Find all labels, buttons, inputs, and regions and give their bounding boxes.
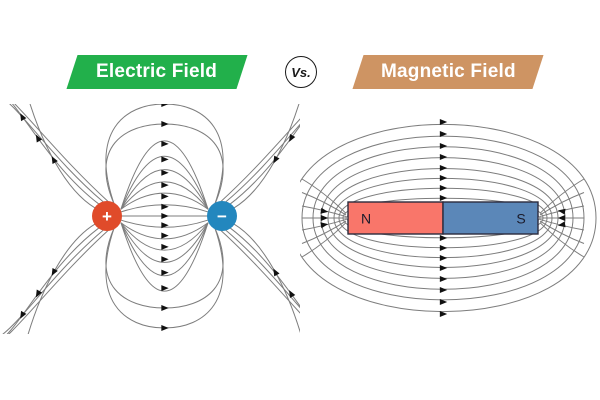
- north-pole-label: N: [361, 211, 371, 227]
- electric-field-lines: [0, 104, 300, 334]
- negative-charge-label: −: [217, 207, 227, 226]
- versus-badge: Vs.: [285, 56, 317, 88]
- electric-field-banner: Electric Field: [66, 55, 247, 89]
- electric-field-arrowheads: [20, 104, 300, 331]
- magnetic-field-banner: Magnetic Field: [352, 55, 543, 89]
- magnetic-field-banner-label: Magnetic Field: [381, 61, 516, 83]
- south-pole-label: S: [516, 211, 525, 227]
- versus-badge-label: Vs.: [291, 66, 311, 79]
- diagram-canvas: Electric Field Vs. Magnetic Field + − N …: [0, 0, 600, 400]
- electric-field-banner-label: Electric Field: [96, 61, 217, 83]
- magnetic-field-diagram: N S: [300, 104, 600, 334]
- positive-charge-label: +: [102, 207, 112, 226]
- electric-field-diagram: + −: [0, 104, 300, 334]
